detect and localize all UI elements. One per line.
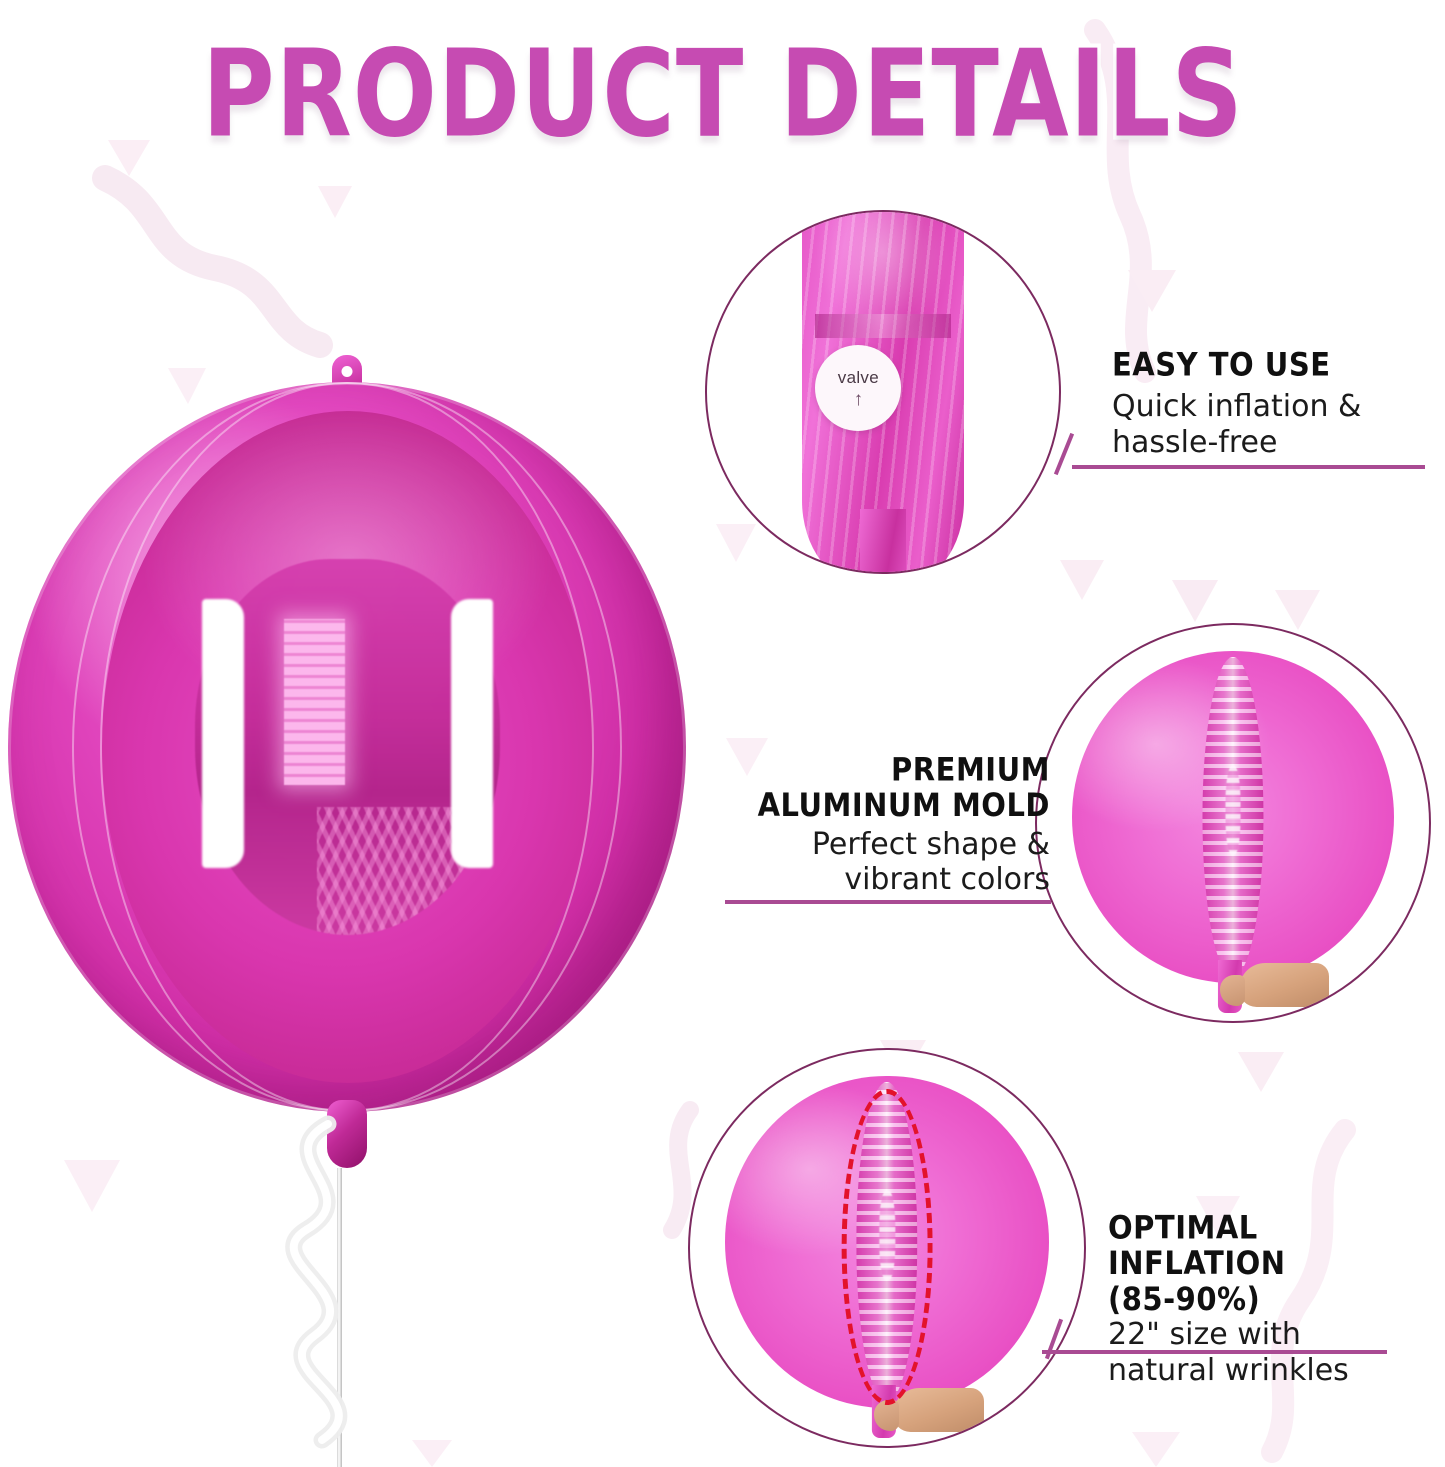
- callout-optimal-inflation: OPTIMAL INFLATION (85-90%) 22" size with…: [1108, 1210, 1438, 1388]
- valve-sticker-label: valve: [838, 368, 879, 388]
- valve-neck: [860, 509, 905, 574]
- connector-underline-1: [1072, 465, 1425, 469]
- callout-2-body: Perfect shape & vibrant colors: [700, 827, 1050, 898]
- callout-premium-aluminum-mold: PREMIUM ALUMINUM MOLD Perfect shape & vi…: [700, 752, 1050, 898]
- connector-underline-2: [725, 900, 1051, 904]
- valve-sticker: valve ↑: [815, 345, 901, 431]
- seam-highlight: [1225, 766, 1241, 855]
- callout-3-body: 22" size with natural wrinkles: [1108, 1317, 1438, 1388]
- detail-circle-valve: valve ↑: [705, 210, 1061, 574]
- callout-easy-to-use: EASY TO USE Quick inflation & hassle-fre…: [1112, 347, 1432, 460]
- curling-ribbon: [250, 1110, 510, 1467]
- page-title: PRODUCT DETAILS: [202, 34, 1244, 157]
- red-dashed-ellipse-annotation: [842, 1089, 933, 1405]
- balloon-rim: [8, 382, 686, 1112]
- callout-1-heading: EASY TO USE: [1112, 347, 1432, 383]
- up-arrow-icon: ↑: [854, 390, 864, 409]
- deflated-balloon: [725, 1076, 1048, 1409]
- detail-circle-optimal-inflation: [688, 1048, 1086, 1448]
- center-seam: [1202, 657, 1263, 976]
- hand: [1239, 963, 1329, 1006]
- callout-1-body: Quick inflation & hassle-free: [1112, 389, 1432, 460]
- deflated-balloon: [1072, 651, 1393, 984]
- detail-circle-aluminum-mold: [1035, 623, 1431, 1023]
- hand: [893, 1388, 983, 1431]
- page-title-wrapper: PRODUCT DETAILS: [0, 34, 1445, 138]
- product-details-infographic: PRODUCT DETAILS valve ↑ EASY TO USE Quic: [0, 0, 1445, 1467]
- hero-balloon: [8, 382, 686, 1112]
- callout-2-heading: PREMIUM ALUMINUM MOLD: [700, 752, 1050, 823]
- callout-3-heading: OPTIMAL INFLATION (85-90%): [1108, 1210, 1438, 1317]
